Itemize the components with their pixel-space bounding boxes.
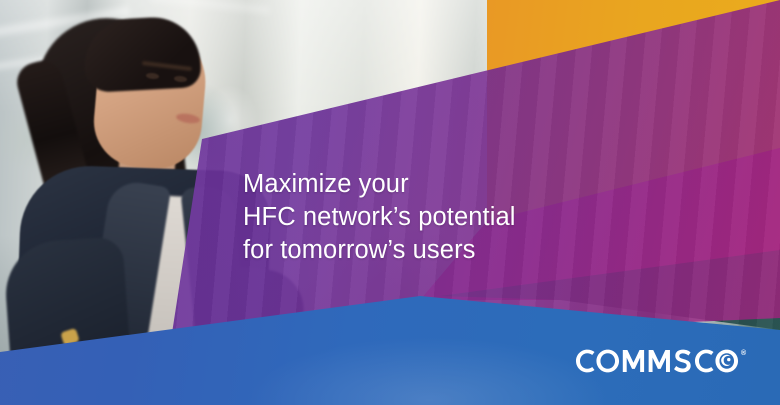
- headline-line-2: HFC network’s potential: [243, 201, 583, 234]
- headline-line-1: Maximize your: [243, 168, 583, 201]
- headline: Maximize your HFC network’s potential fo…: [243, 168, 583, 267]
- registered-trademark-symbol: ®: [741, 350, 746, 357]
- commscope-wordmark-icon: [576, 349, 739, 373]
- commscope-marketing-banner: Maximize your HFC network’s potential fo…: [0, 0, 780, 405]
- headline-line-3: for tomorrow’s users: [243, 234, 583, 267]
- commscope-logo: ®: [576, 349, 746, 373]
- commscope-swoosh-o-icon: [715, 350, 738, 373]
